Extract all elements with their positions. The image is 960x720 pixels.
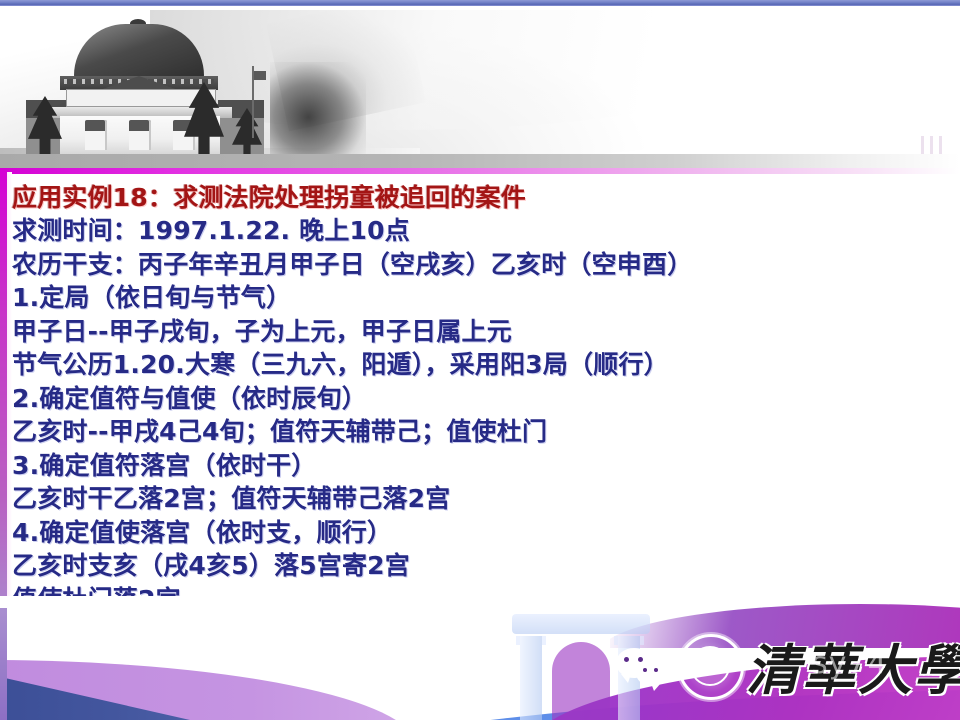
body-line-4: 甲子日--甲子戌旬，子为上元，甲子日属上元 <box>12 315 952 349</box>
foliage-mass <box>270 62 366 154</box>
body-line-2: 农历干支：丙子年辛丑月甲子日（空戌亥）乙亥时（空申酉） <box>12 248 952 282</box>
building-dome <box>74 24 204 80</box>
seal-center-mark: ★ <box>705 661 717 674</box>
footer-left-edge-stub <box>0 608 7 720</box>
header-photo-band <box>0 6 960 154</box>
body-line-7: 乙亥时--甲戌4己4旬；值符天辅带己；值使杜门 <box>12 415 952 449</box>
body-line-1: 求测时间：1997.1.22. 晚上10点 <box>12 214 952 248</box>
gate-pillar-left <box>520 636 542 720</box>
slide-title: 应用实例18：求测法院处理拐童被追回的案件 <box>12 182 952 214</box>
body-line-11: 乙亥时支亥（戌4亥5）落5宫寄2宫 <box>12 549 952 583</box>
wechat-dot <box>643 668 647 672</box>
tsinghua-seal-icon: ★ <box>678 634 744 700</box>
left-frame-edge <box>0 168 7 638</box>
wechat-dot <box>654 668 658 672</box>
image-watermark: sy74 <box>812 646 888 681</box>
body-line-6: 2.确定值符与值使（依时辰旬） <box>12 382 952 416</box>
gate-lintel <box>512 614 650 634</box>
magenta-divider-rule <box>0 168 960 174</box>
slide-canvas: 应用实例18：求测法院处理拐童被追回的案件 求测时间：1997.1.22. 晚上… <box>0 0 960 720</box>
body-line-9: 乙亥时干乙落2宫；值符天辅带己落2宫 <box>12 482 952 516</box>
building-column <box>129 120 151 150</box>
wechat-bubble-small <box>636 660 666 686</box>
wechat-dot <box>624 657 629 662</box>
building-column <box>85 120 107 150</box>
wechat-dot <box>638 657 643 662</box>
flag-icon <box>254 71 266 80</box>
body-line-8: 3.确定值符落宫（依时干） <box>12 449 952 483</box>
wechat-icon <box>616 648 672 688</box>
body-line-3: 1.定局（依日旬与节气） <box>12 281 952 315</box>
body-line-5: 节气公历1.20.大寒（三九六，阳遁），采用阳3局（顺行） <box>12 348 952 382</box>
tsinghua-auditorium-photo <box>26 28 331 154</box>
body-line-10: 4.确定值使落宫（依时支，顺行） <box>12 516 952 550</box>
gate-arch <box>552 642 610 720</box>
slide-body: 应用实例18：求测法院处理拐童被追回的案件 求测时间：1997.1.22. 晚上… <box>12 182 952 612</box>
